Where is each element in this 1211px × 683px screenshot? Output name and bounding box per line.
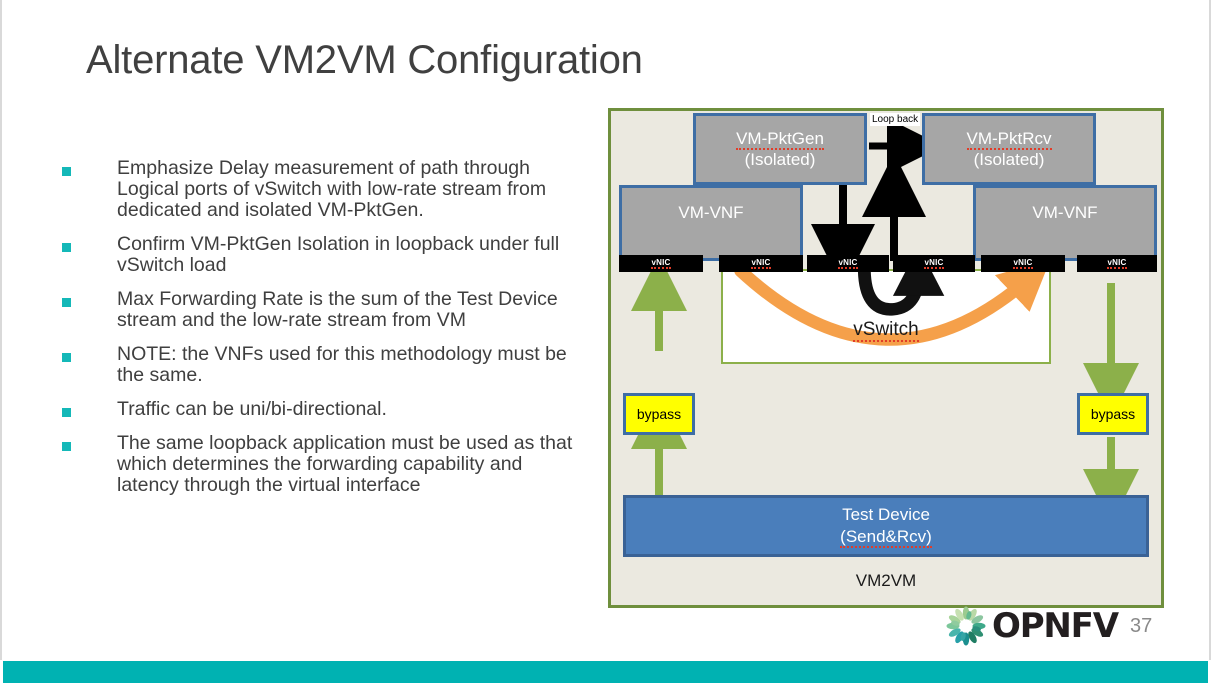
opnfv-wordmark: OPNFV (992, 606, 1118, 646)
vnic-2: vNIC (719, 255, 803, 272)
left-edge-rule (0, 0, 2, 660)
bullet-text: The same loopback application must be us… (117, 433, 587, 496)
list-item: Emphasize Delay measurement of path thro… (62, 158, 592, 221)
vm-pktrcv-box: VM-PktRcv (Isolated) (922, 113, 1096, 185)
bullet-marker-icon (62, 442, 71, 451)
list-item: NOTE: the VNFs used for this methodology… (62, 344, 592, 386)
page-title: Alternate VM2VM Configuration (86, 38, 643, 83)
bullet-text: Confirm VM-PktGen Isolation in loopback … (117, 234, 587, 276)
vnic-4: vNIC (893, 255, 975, 272)
list-item: Confirm VM-PktGen Isolation in loopback … (62, 234, 592, 276)
loopback-label: Loop back (870, 113, 920, 126)
vm2vm-diagram: VM-PktGen (Isolated) Loop back VM-PktRcv… (608, 108, 1164, 608)
bullet-marker-icon (62, 408, 71, 417)
bullet-marker-icon (62, 298, 71, 307)
vm-vnf-left-label: VM-VNF (678, 202, 743, 223)
bullet-marker-icon (62, 353, 71, 362)
vswitch-arrows (723, 271, 1049, 362)
vswitch-panel: vSwitch (721, 269, 1051, 364)
vnic-3: vNIC (807, 255, 889, 272)
list-item: Traffic can be uni/bi-directional. (62, 399, 592, 420)
list-item: The same loopback application must be us… (62, 433, 592, 496)
slide-canvas: Alternate VM2VM Configuration Emphasize … (0, 0, 1211, 683)
footer-accent-bar (3, 661, 1208, 683)
bullet-text: NOTE: the VNFs used for this methodology… (117, 344, 587, 386)
opnfv-burst-icon (944, 606, 988, 646)
test-device-line1: Test Device (842, 504, 930, 526)
page-number: 37 (1130, 615, 1152, 638)
vm-vnf-left-box: VM-VNF (619, 185, 803, 261)
vm-pktrcv-line2: (Isolated) (974, 149, 1045, 170)
vswitch-label: vSwitch (723, 319, 1049, 341)
bypass-right-box: bypass (1077, 393, 1149, 435)
bullet-list: Emphasize Delay measurement of path thro… (62, 158, 592, 509)
list-item: Max Forwarding Rate is the sum of the Te… (62, 289, 592, 331)
opnfv-logo: OPNFV (944, 606, 1118, 646)
bullet-marker-icon (62, 243, 71, 252)
vm-pktgen-box: VM-PktGen (Isolated) (693, 113, 867, 185)
vnic-6: vNIC (1077, 255, 1157, 272)
vm-vnf-right-label: VM-VNF (1032, 202, 1097, 223)
test-device-box: Test Device (Send&Rcv) (623, 495, 1149, 557)
bullet-text: Traffic can be uni/bi-directional. (117, 399, 587, 420)
vm-pktgen-line2: (Isolated) (745, 149, 816, 170)
bypass-left-box: bypass (623, 393, 695, 435)
bullet-text: Max Forwarding Rate is the sum of the Te… (117, 289, 587, 331)
vnic-5: vNIC (981, 255, 1065, 272)
vm2vm-container-label: VM2VM (611, 571, 1161, 591)
vm-pktrcv-line1: VM-PktRcv (967, 128, 1052, 149)
bullet-marker-icon (62, 167, 71, 176)
vm-vnf-right-box: VM-VNF (973, 185, 1157, 261)
bullet-text: Emphasize Delay measurement of path thro… (117, 158, 587, 221)
arrow-vswitch-uturn (864, 271, 918, 309)
test-device-line2: (Send&Rcv) (840, 526, 932, 548)
vnic-1: vNIC (619, 255, 703, 272)
vm-pktgen-line1: VM-PktGen (736, 128, 824, 149)
